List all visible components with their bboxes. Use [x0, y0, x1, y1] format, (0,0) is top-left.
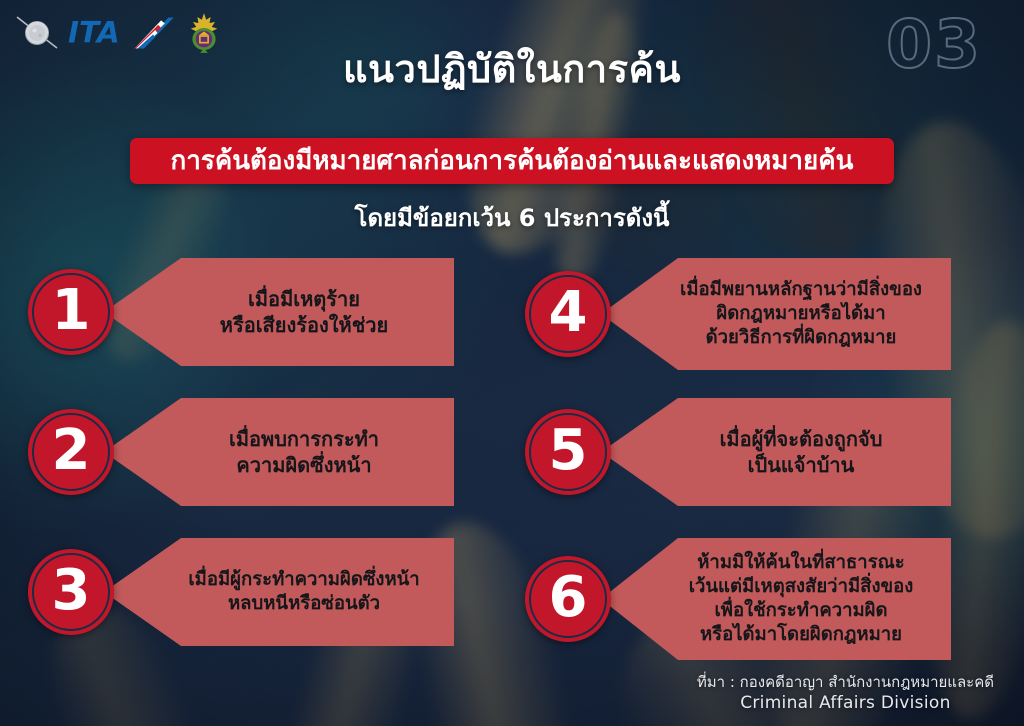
- badge-number-3: 3: [28, 549, 114, 635]
- badge-number-5: 5: [525, 409, 611, 495]
- badge-number-6-label: 6: [549, 570, 588, 626]
- arrow-callout-6: ห้ามมิให้ค้นในที่สาธารณะ เว้นแต่มีเหตุสง…: [601, 538, 951, 660]
- headline-banner-text: การค้นต้องมีหมายศาลก่อนการค้นต้องอ่านและ…: [171, 148, 854, 174]
- footer-division-line: Criminal Affairs Division: [697, 692, 994, 716]
- arrow-callout-5: เมื่อผู้ที่จะต้องถูกจับ เป็นแจ้าบ้าน: [601, 398, 951, 506]
- arrow-callout-2: เมื่อพบการกระทำ ความผิดซึ่งหน้า: [104, 398, 454, 506]
- badge-number-3-label: 3: [52, 563, 91, 619]
- list-item-4: 4 เมื่อมีพยานหลักฐานว่ามีสิ่งของ ผิดกฎหม…: [525, 258, 951, 370]
- list-item-1: 1 เมื่อมีเหตุร้าย หรือเสียงร้องให้ช่วย: [28, 258, 454, 366]
- arrow-callout-4: เมื่อมีพยานหลักฐานว่ามีสิ่งของ ผิดกฎหมาย…: [601, 258, 951, 370]
- footer-source-line: ที่มา : กองคดีอาญา สำนักงานกฎหมายและคดี: [697, 672, 994, 692]
- arrow-callout-3: เมื่อมีผู้กระทำความผิดซึ่งหน้า หลบหนีหรื…: [104, 538, 454, 646]
- list-item-2: 2 เมื่อพบการกระทำ ความผิดซึ่งหน้า: [28, 398, 454, 506]
- badge-number-1-label: 1: [52, 283, 91, 339]
- arrow-callout-4-text: เมื่อมีพยานหลักฐานว่ามีสิ่งของ ผิดกฎหมาย…: [616, 278, 936, 350]
- arrow-callout-6-text: ห้ามมิให้ค้นในที่สาธารณะ เว้นแต่มีเหตุสง…: [625, 551, 928, 647]
- badge-number-1: 1: [28, 269, 114, 355]
- arrow-callout-1: เมื่อมีเหตุร้าย หรือเสียงร้องให้ช่วย: [104, 258, 454, 366]
- badge-number-4: 4: [525, 271, 611, 357]
- list-item-3: 3 เมื่อมีผู้กระทำความผิดซึ่งหน้า หลบหนีห…: [28, 538, 454, 646]
- arrow-callout-3-text: เมื่อมีผู้กระทำความผิดซึ่งหน้า หลบหนีหรื…: [124, 568, 433, 616]
- badge-number-5-label: 5: [549, 423, 588, 479]
- page-title: แนวปฏิบัติในการค้น: [0, 38, 1024, 99]
- arrow-callout-5-text: เมื่อผู้ที่จะต้องถูกจับ เป็นแจ้าบ้าน: [656, 426, 897, 479]
- badge-number-6: 6: [525, 556, 611, 642]
- badge-number-2: 2: [28, 409, 114, 495]
- badge-number-2-label: 2: [52, 423, 91, 479]
- list-item-6: 6 ห้ามมิให้ค้นในที่สาธารณะ เว้นแต่มีเหตุ…: [525, 538, 951, 660]
- footer: ที่มา : กองคดีอาญา สำนักงานกฎหมายและคดี …: [697, 672, 994, 716]
- headline-banner: การค้นต้องมีหมายศาลก่อนการค้นต้องอ่านและ…: [130, 138, 894, 184]
- arrow-callout-1-text: เมื่อมีเหตุร้าย หรือเสียงร้องให้ช่วย: [156, 286, 402, 339]
- arrow-callout-2-text: เมื่อพบการกระทำ ความผิดซึ่งหน้า: [165, 426, 393, 479]
- badge-number-4-label: 4: [549, 285, 588, 341]
- list-item-5: 5 เมื่อผู้ที่จะต้องถูกจับ เป็นแจ้าบ้าน: [525, 398, 951, 506]
- infographic-poster: ITA 03 แนวปฏิบัติในการค้น การค้นต้องมีหม…: [0, 0, 1024, 726]
- subtitle: โดยมีข้อยกเว้น 6 ประการดังนี้: [0, 198, 1024, 237]
- exception-list: 1 เมื่อมีเหตุร้าย หรือเสียงร้องให้ช่วย 2…: [0, 258, 1024, 658]
